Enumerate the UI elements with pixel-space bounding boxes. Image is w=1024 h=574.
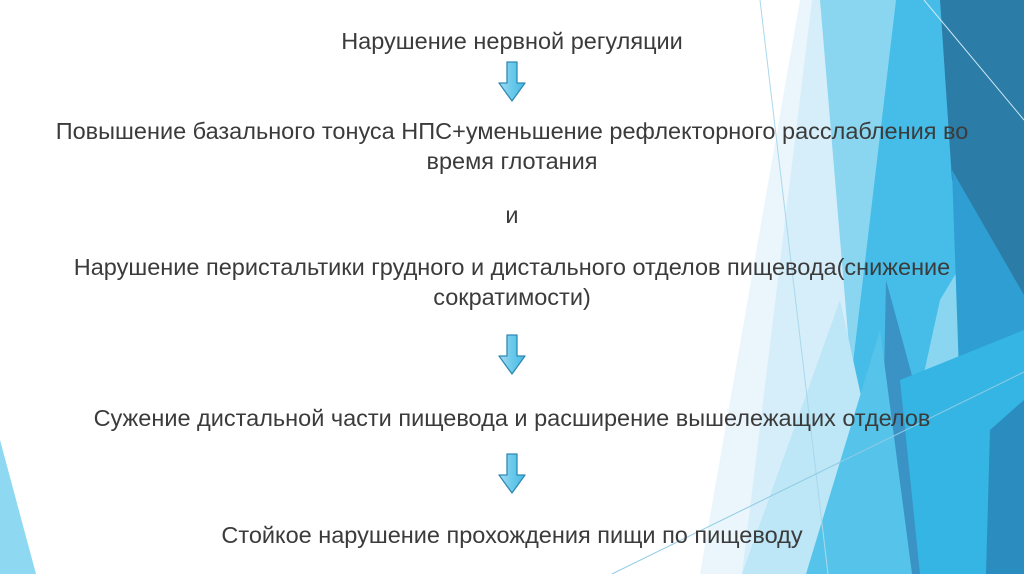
flow-step-2: Повышение базального тонуса НПС+уменьшен… [22,116,1002,176]
presentation-slide: Нарушение нервной регуляции Повышение ба… [0,0,1024,574]
flowchart: Нарушение нервной регуляции Повышение ба… [0,0,1024,574]
flow-step-6: Стойкое нарушение прохождения пищи по пи… [0,520,1024,550]
arrow-down-icon [497,334,527,376]
flow-step-4: Нарушение перистальтики грудного и диста… [14,252,1010,312]
flow-connector-1 [497,61,527,103]
arrow-down-icon [497,453,527,495]
flow-step-3: и [0,200,1024,230]
flow-connector-2 [497,334,527,376]
arrow-down-icon [497,61,527,103]
flow-step-5: Сужение дистальной части пищевода и расш… [0,403,1024,433]
flow-step-1: Нарушение нервной регуляции [0,26,1024,56]
flow-connector-3 [497,453,527,495]
